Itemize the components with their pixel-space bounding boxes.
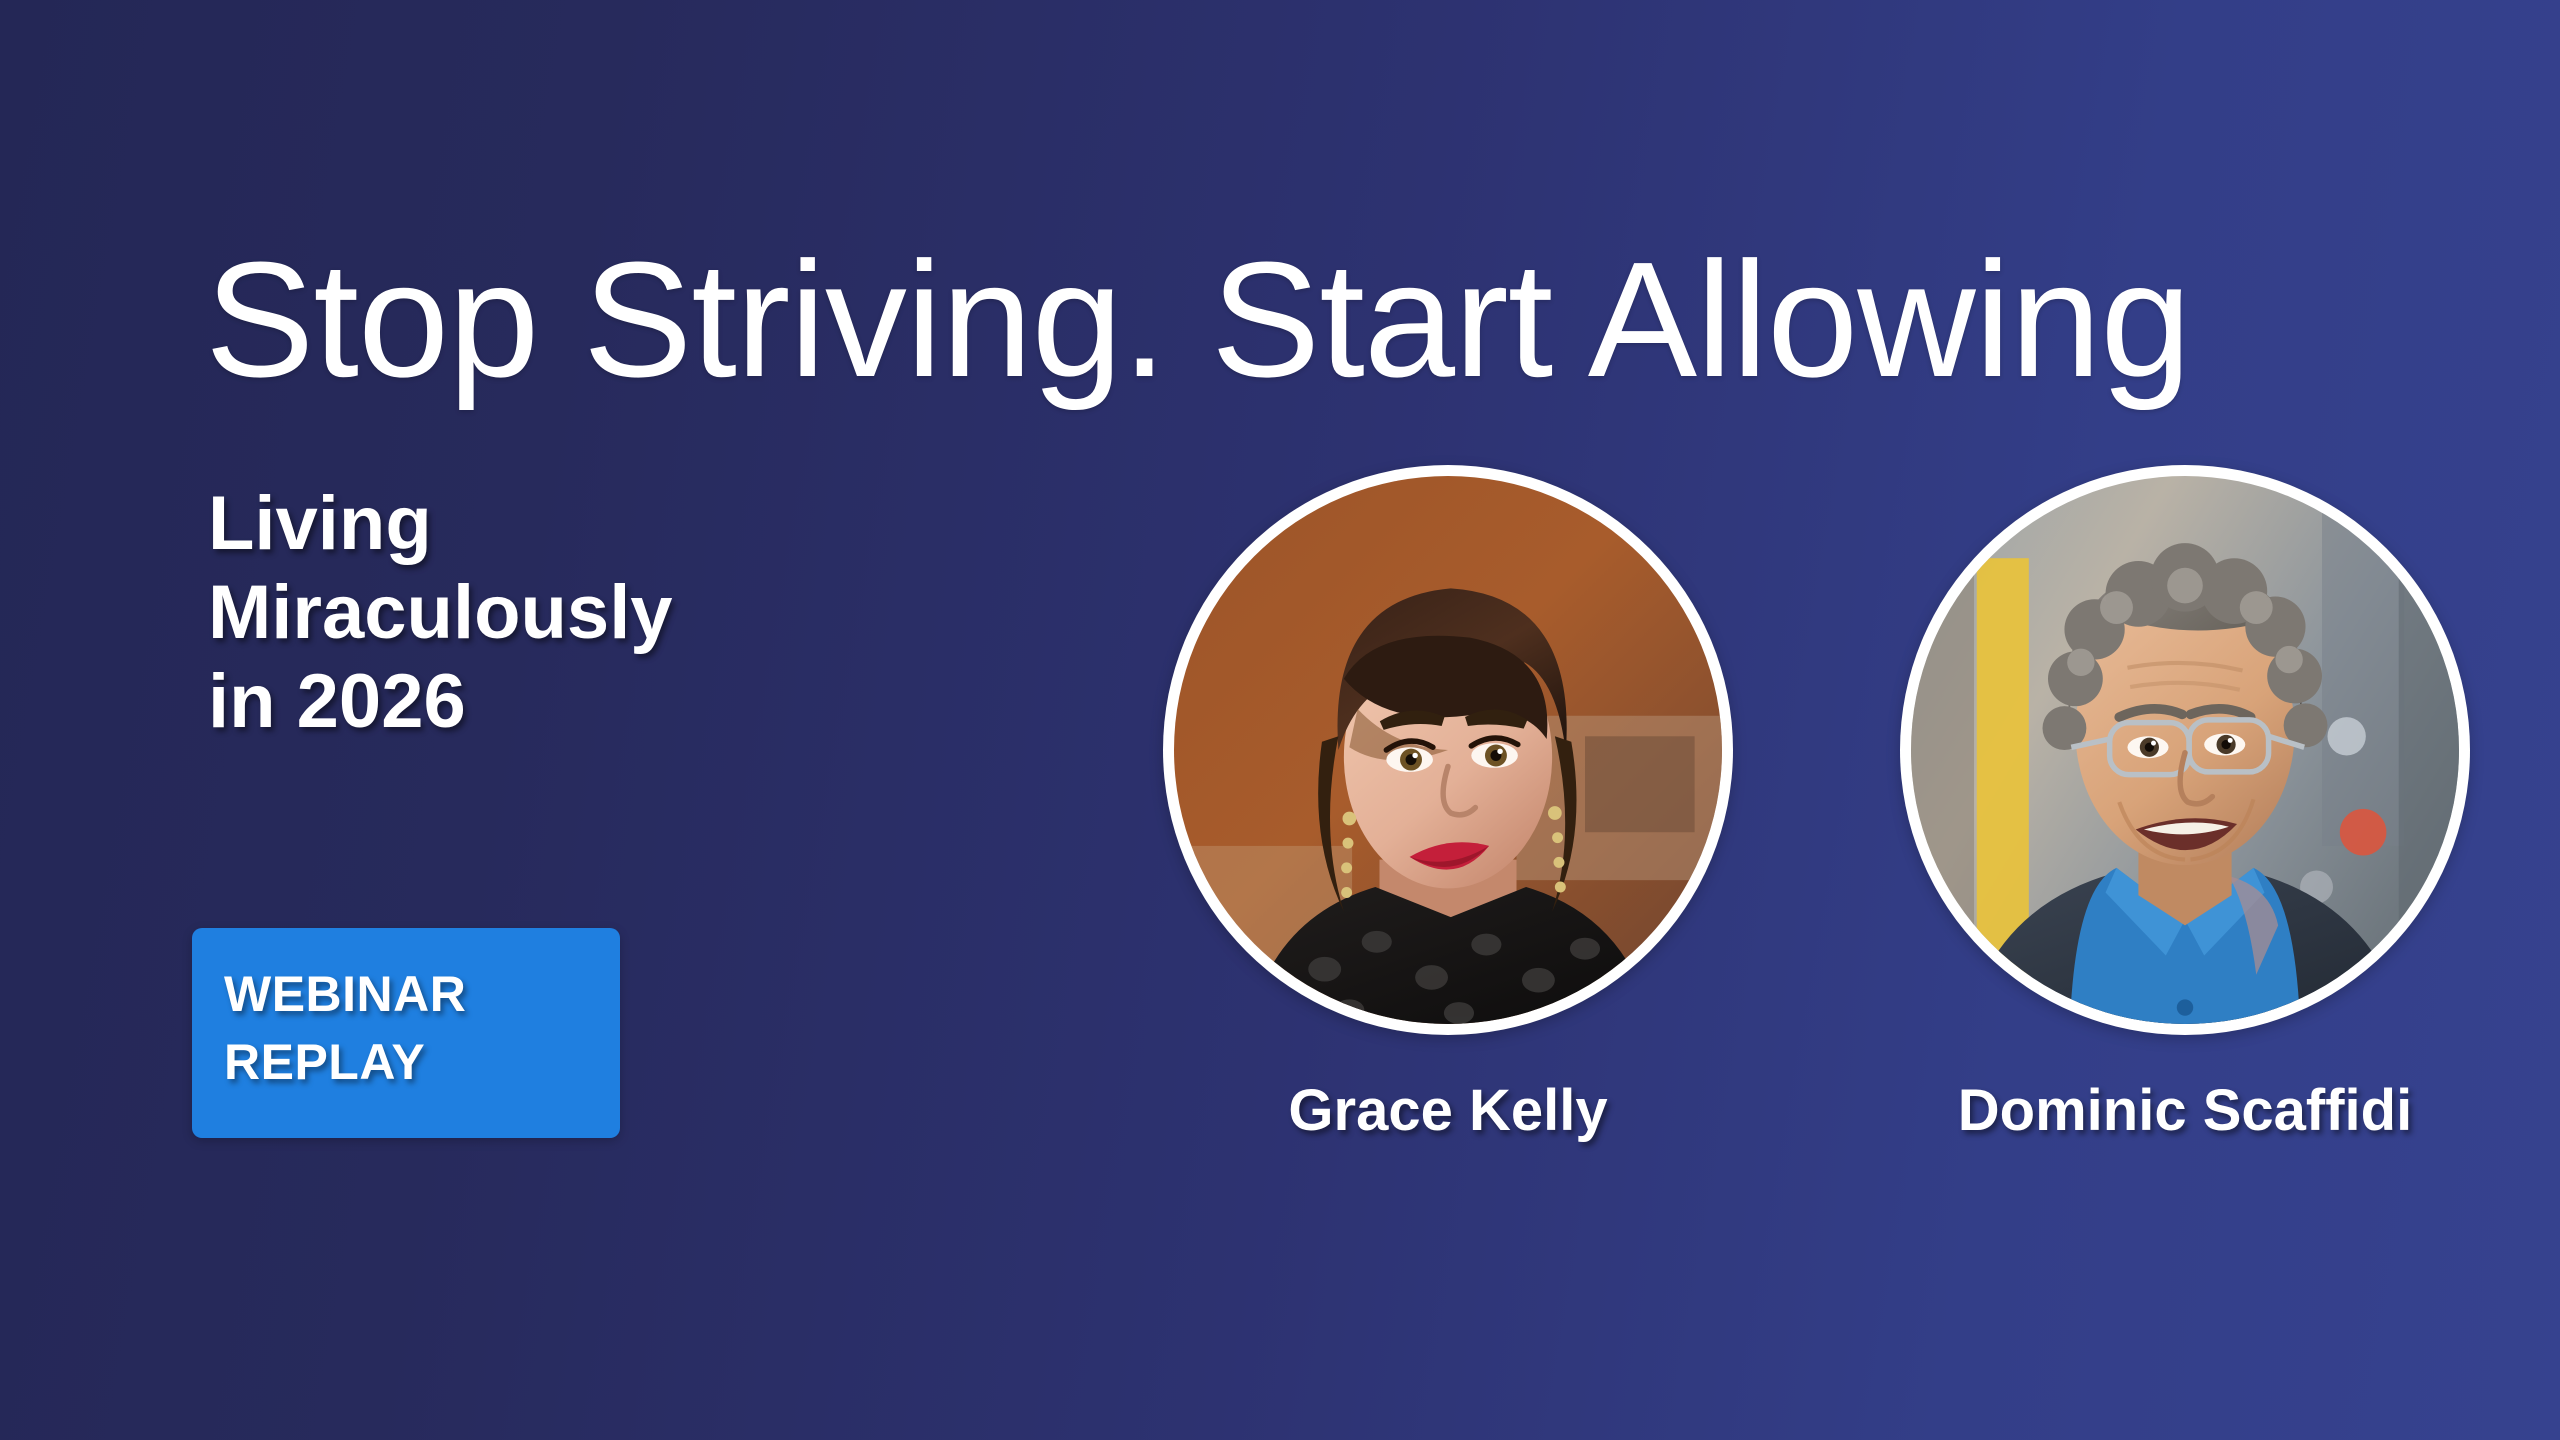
subheading: Living Miraculously in 2026 xyxy=(208,480,968,747)
page-title: Stop Striving. Start Allowing xyxy=(205,238,2445,402)
speaker-name: Dominic Scaffidi xyxy=(1958,1077,2412,1144)
speaker-name: Grace Kelly xyxy=(1288,1077,1607,1144)
webinar-promo-banner: Stop Striving. Start Allowing Living Mir… xyxy=(0,0,2560,1440)
subheading-line-3: in 2026 xyxy=(208,658,968,747)
portrait-man-photo xyxy=(1911,476,2459,1024)
avatar xyxy=(1900,465,2470,1035)
webinar-replay-badge[interactable]: WEBINAR REPLAY xyxy=(192,928,620,1138)
badge-line-2: REPLAY xyxy=(224,1028,466,1096)
subheading-line-2: Miraculously xyxy=(208,569,968,658)
avatar xyxy=(1163,465,1733,1035)
portrait-woman-photo xyxy=(1174,476,1722,1024)
speaker-card-1: Grace Kelly xyxy=(1163,465,1733,1035)
badge-label: WEBINAR REPLAY xyxy=(224,960,466,1096)
speaker-card-2: Dominic Scaffidi xyxy=(1900,465,2470,1035)
badge-line-1: WEBINAR xyxy=(224,960,466,1028)
subheading-line-1: Living xyxy=(208,480,968,569)
